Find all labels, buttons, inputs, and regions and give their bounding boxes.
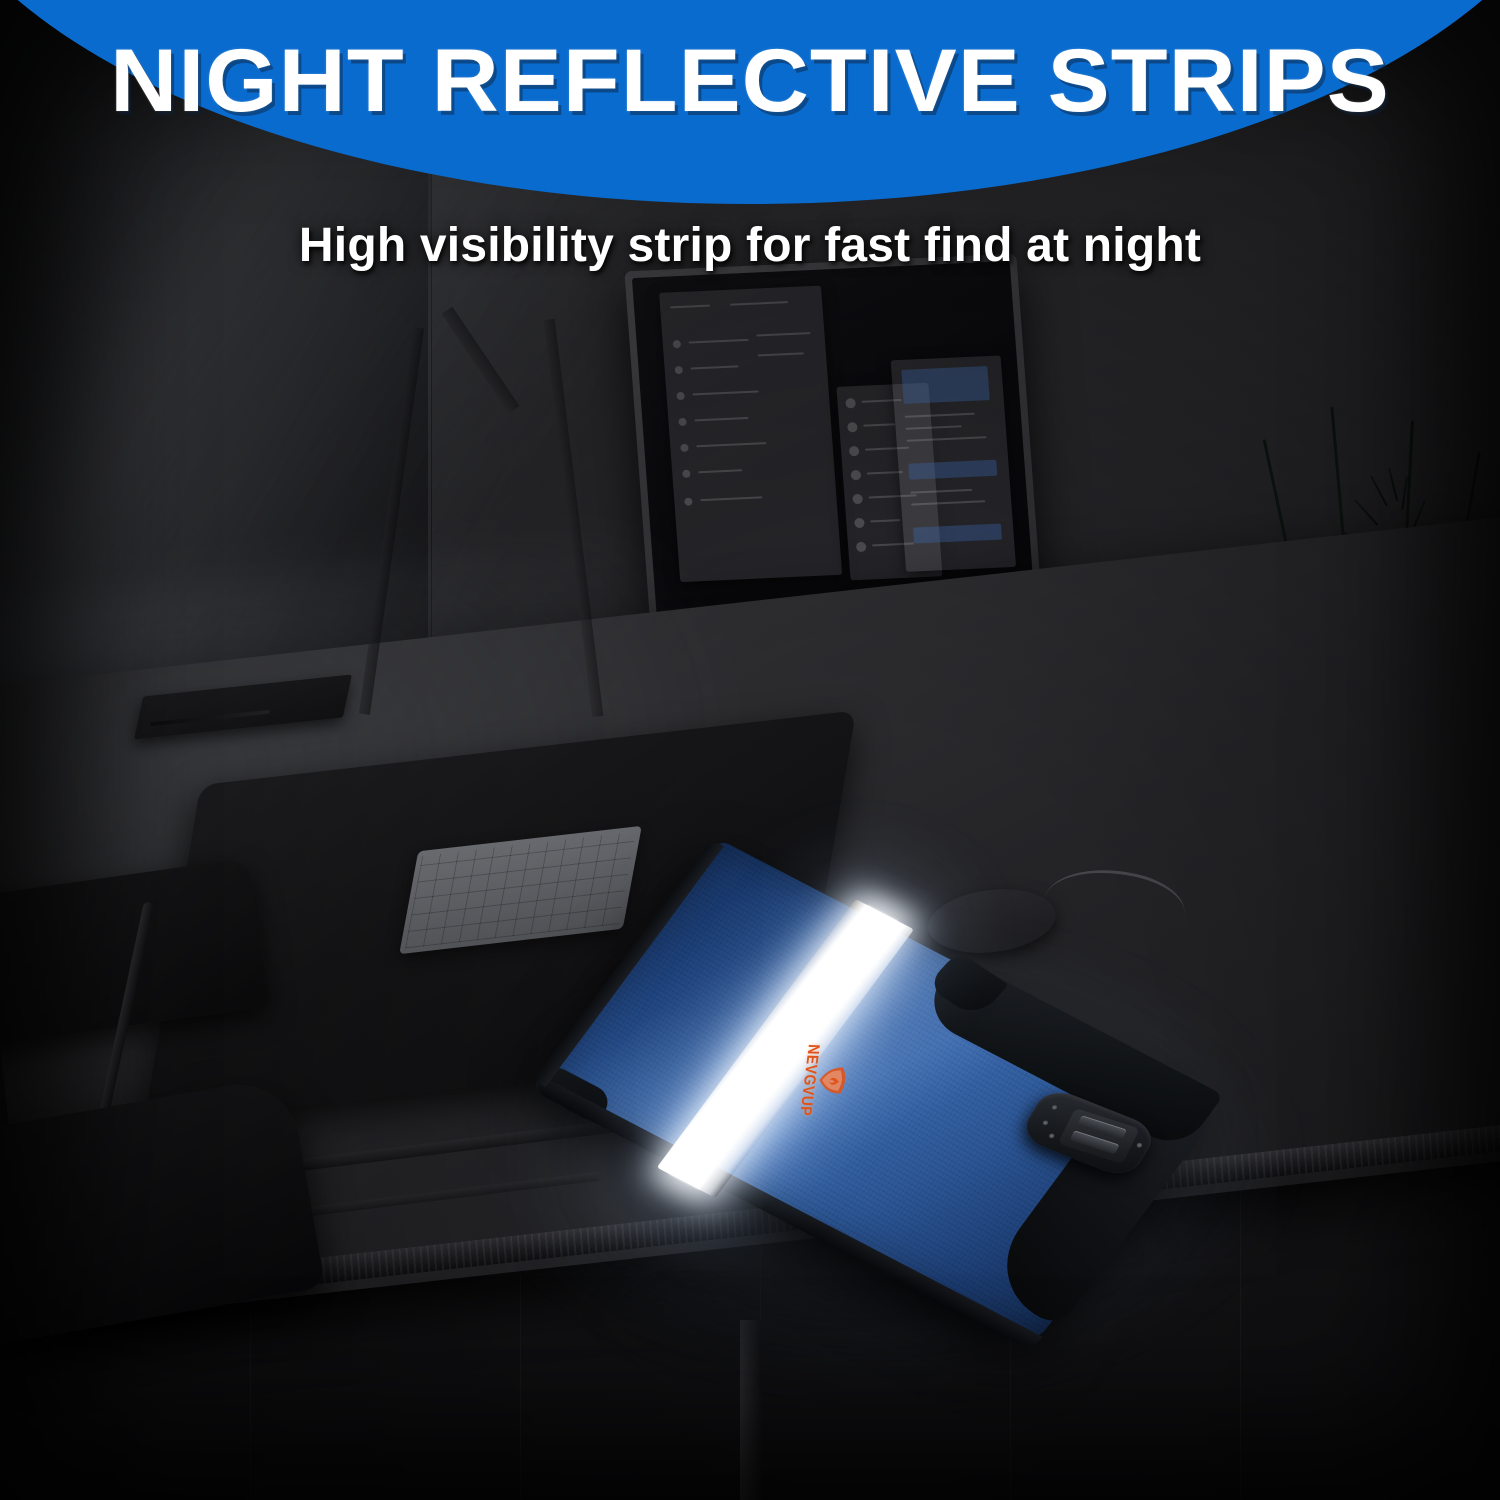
product-marketing-image: NEVGVUP [0, 0, 1500, 1500]
imac-screen [632, 261, 1036, 629]
fireproof-document-bag: NEVGVUP [540, 915, 1260, 1345]
lock-dials [1058, 1108, 1140, 1164]
page-title: NIGHT REFLECTIVE STRIPS [0, 36, 1500, 125]
subtitle-text: High visibility strip for fast find at n… [0, 222, 1500, 270]
